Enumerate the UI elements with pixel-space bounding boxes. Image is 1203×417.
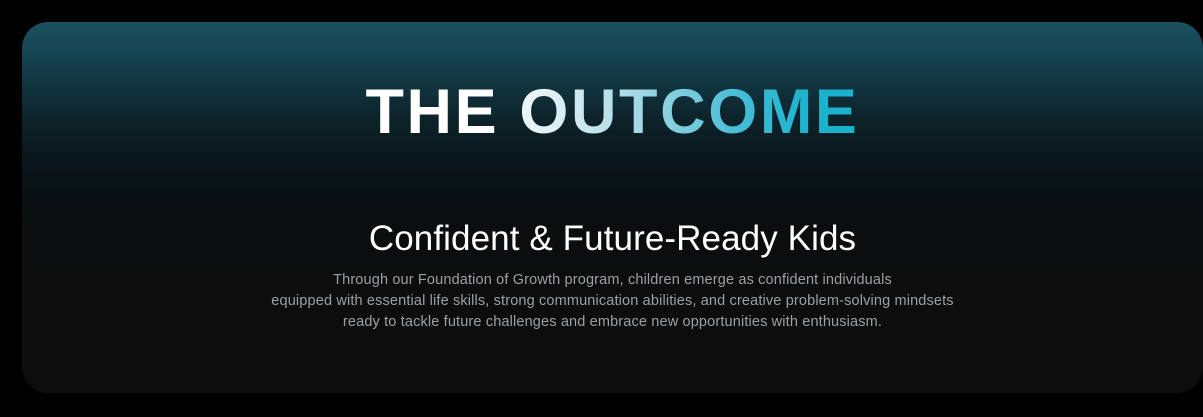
outcome-title-container: THE OUTCOME <box>22 81 1203 144</box>
outcome-card: THE OUTCOME Confident & Future-Ready Kid… <box>22 22 1203 393</box>
outcome-section: THE OUTCOME Confident & Future-Ready Kid… <box>0 0 1203 417</box>
outcome-subtitle: Confident & Future-Ready Kids <box>22 217 1203 261</box>
outcome-description-line-3: ready to tackle future challenges and em… <box>22 312 1203 333</box>
page-title: THE OUTCOME <box>365 81 859 144</box>
outcome-description-line-2: equipped with essential life skills, str… <box>22 291 1203 312</box>
outcome-description: Through our Foundation of Growth program… <box>22 270 1203 333</box>
outcome-description-line-1: Through our Foundation of Growth program… <box>22 270 1203 291</box>
outcome-card-content: THE OUTCOME Confident & Future-Ready Kid… <box>22 22 1203 393</box>
